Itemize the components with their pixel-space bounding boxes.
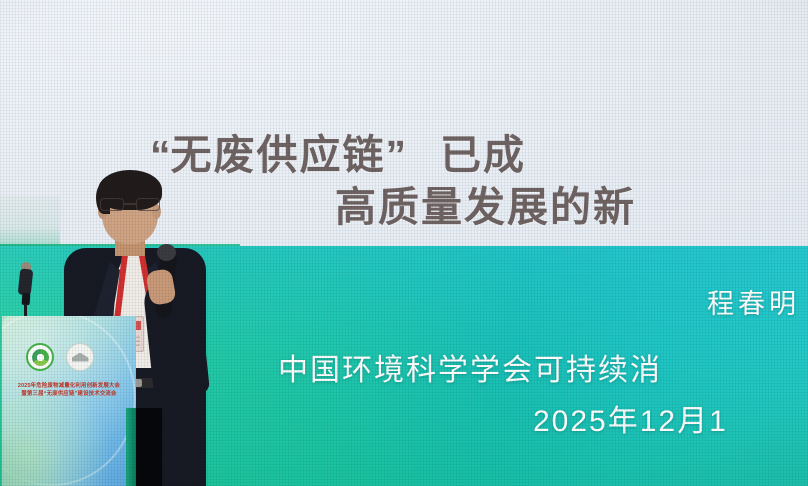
glasses-lens-right [136, 198, 160, 211]
organization-label: 中国环境科学学会可持续消 [278, 345, 662, 389]
podium-caption-line-2: 暨第三届“无废供应链”建设技术交流会 [8, 390, 130, 398]
led-green-accent-upper [0, 196, 60, 248]
microphone-body [18, 268, 34, 295]
speaker-name-label: 程春明 [707, 282, 800, 321]
glasses-lens-left [100, 198, 124, 211]
podium-caption-line-1: 2025年危险废物减量化利用创新发展大会 [8, 382, 130, 390]
microphone-head-icon [157, 244, 176, 261]
event-date-label: 2025年12月1 [533, 396, 728, 440]
podium-logo-row [26, 342, 116, 372]
stage-shadow-gap [136, 408, 162, 486]
recycling-leaf-icon [26, 343, 54, 371]
slide-title-line-1: “无废供应链”已成 [150, 131, 808, 179]
title-line-1-tail: 已成 [440, 132, 526, 178]
slide-title-line-2: 高质量发展的新 [335, 183, 808, 231]
quote-close: ” [386, 132, 407, 178]
conference-stage-screenshot: “无废供应链”已成 高质量发展的新 程春明 中国环境科学学会可持续消 2025年… [0, 0, 808, 486]
podium-caption: 2025年危险废物减量化利用创新发展大会 暨第三届“无废供应链”建设技术交流会 [8, 382, 130, 398]
glasses-bridge [124, 203, 136, 205]
podium-panel: 2025年危险废物减量化利用创新发展大会 暨第三届“无废供应链”建设技术交流会 [2, 316, 136, 486]
slide-title-block: “无废供应链”已成 高质量发展的新 [150, 131, 808, 231]
academy-emblem-icon [66, 343, 94, 371]
glasses-icon [100, 198, 160, 211]
